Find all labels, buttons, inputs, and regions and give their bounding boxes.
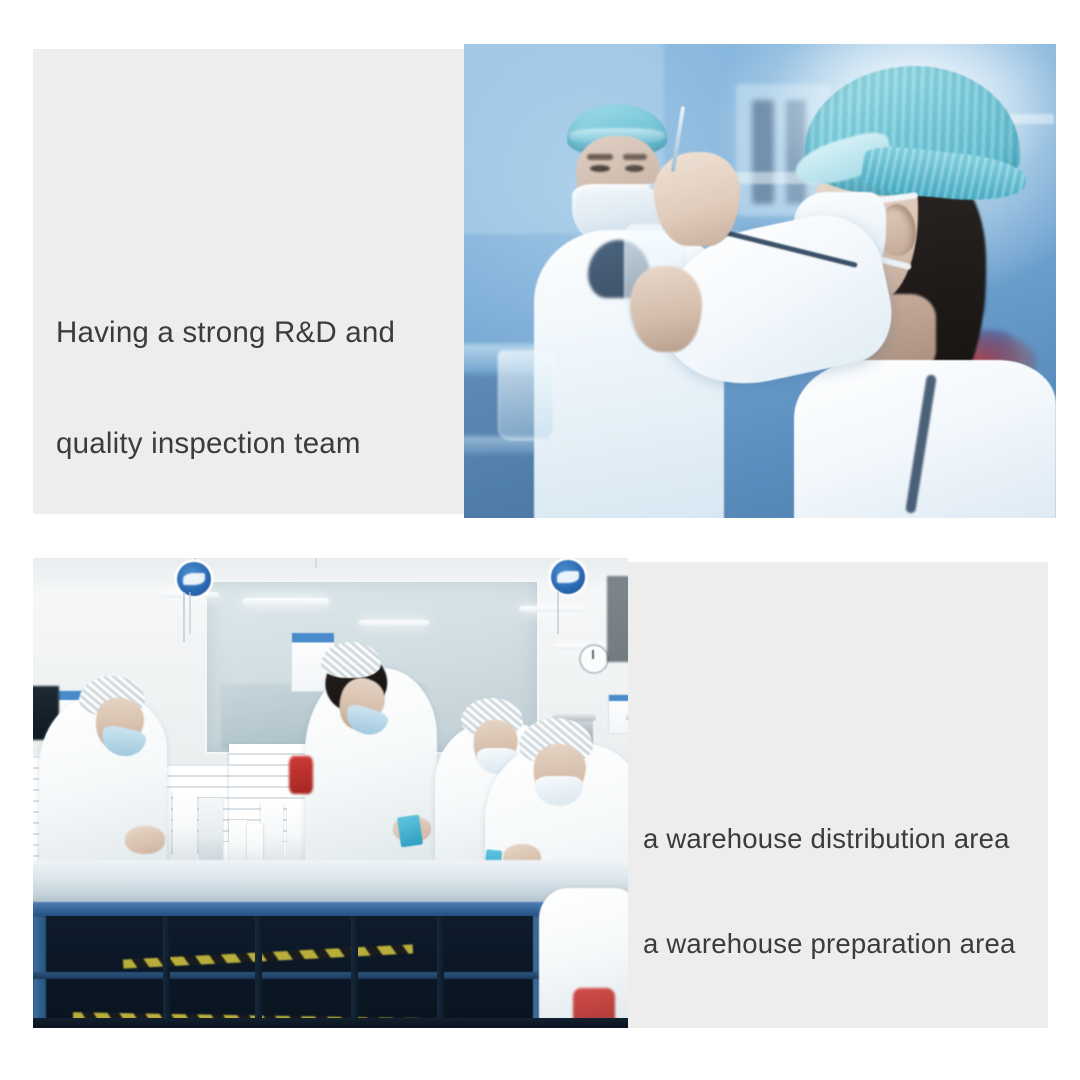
lab-beaker bbox=[498, 350, 554, 440]
warehouse-caption: a warehouse distribution area a warehous… bbox=[643, 751, 1016, 1031]
hanging-cable-1 bbox=[183, 592, 185, 642]
caption-line-1: a warehouse distribution area bbox=[643, 821, 1016, 856]
carton-upright bbox=[199, 798, 223, 860]
hanging-cable-2 bbox=[189, 592, 191, 634]
warehouse-photo bbox=[33, 558, 628, 1028]
table-shelf-bar bbox=[33, 972, 555, 979]
worker-a-eye-right bbox=[625, 165, 644, 172]
carton-upright bbox=[261, 802, 283, 862]
worker-a-eye-left bbox=[590, 165, 610, 172]
teal-label-tag bbox=[397, 815, 423, 848]
page-canvas: Having a strong R&D and quality inspecti… bbox=[0, 0, 1080, 1080]
rnd-lab-photo bbox=[464, 44, 1056, 518]
warehouse-worker-2-red-item bbox=[289, 756, 313, 794]
carton-upright bbox=[173, 794, 197, 860]
warehouse-worker-2-hairnet bbox=[321, 642, 381, 678]
worker-a-brow-left bbox=[587, 154, 613, 160]
sign-stem-3 bbox=[315, 558, 317, 568]
caption-line-1: Having a strong R&D and bbox=[56, 314, 395, 351]
wall-dark-slot-2 bbox=[607, 576, 628, 662]
rnd-quality-caption: Having a strong R&D and quality inspecti… bbox=[56, 240, 395, 536]
worker-b-hand-lower bbox=[630, 266, 702, 352]
table-crossbar-1 bbox=[163, 916, 170, 1028]
warehouse-worker-1-hand bbox=[125, 826, 165, 854]
wall-clock bbox=[579, 644, 609, 674]
wall-poster-3 bbox=[608, 694, 628, 734]
ceiling-lamp-2 bbox=[359, 620, 429, 626]
hanging-cable-3 bbox=[557, 590, 559, 634]
blue-circular-sign-2 bbox=[551, 560, 585, 594]
worker-b-hand-upper bbox=[654, 152, 740, 246]
ceiling-lamp-1 bbox=[243, 598, 329, 605]
table-crossbar-4 bbox=[437, 916, 444, 1028]
floor-shadow-strip bbox=[33, 1018, 628, 1028]
table-crossbar-3 bbox=[351, 916, 358, 1028]
caption-line-2: quality inspection team bbox=[56, 425, 395, 462]
worker-a-brow-right bbox=[623, 154, 647, 160]
table-crossbar-2 bbox=[255, 916, 262, 1028]
ceiling-lamp-4 bbox=[519, 606, 585, 612]
packing-table-top bbox=[33, 860, 628, 906]
caption-line-2: a warehouse preparation area bbox=[643, 926, 1016, 961]
blue-circular-sign-1 bbox=[177, 562, 211, 596]
